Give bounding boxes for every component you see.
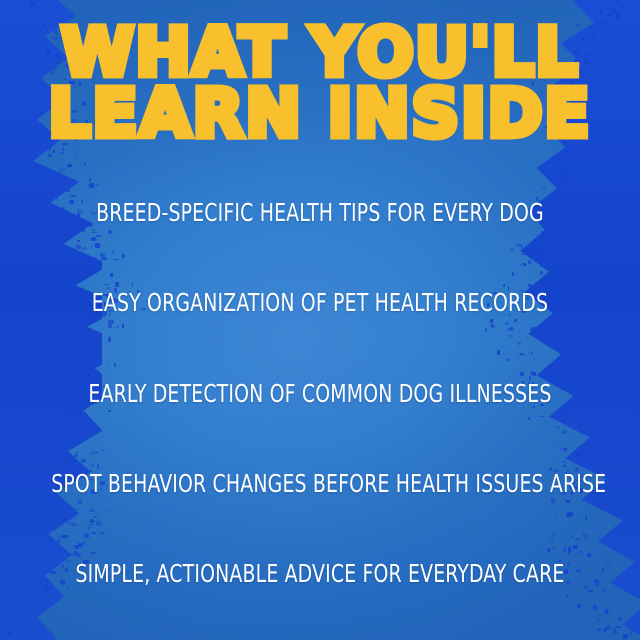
list-item: BREED-SPECIFIC HEALTH TIPS FOR EVERY DOG xyxy=(51,198,589,227)
list-item: EASY ORGANIZATION OF PET HEALTH RECORDS xyxy=(51,288,589,317)
benefits-list: BREED-SPECIFIC HEALTH TIPS FOR EVERY DOG… xyxy=(0,198,640,588)
page-title-line-1: WHAT YOU'LL xyxy=(0,22,640,83)
page-title: WHAT YOU'LL LEARN INSIDE xyxy=(0,22,640,145)
list-item: SIMPLE, ACTIONABLE ADVICE FOR EVERYDAY C… xyxy=(51,559,589,588)
list-item: EARLY DETECTION OF COMMON DOG ILLNESSES xyxy=(51,379,589,408)
list-item: SPOT BEHAVIOR CHANGES BEFORE HEALTH ISSU… xyxy=(51,469,589,498)
promo-graphic-canvas: WHAT YOU'LL LEARN INSIDE BREED-SPECIFIC … xyxy=(0,0,640,640)
page-title-line-2: LEARN INSIDE xyxy=(0,83,640,144)
